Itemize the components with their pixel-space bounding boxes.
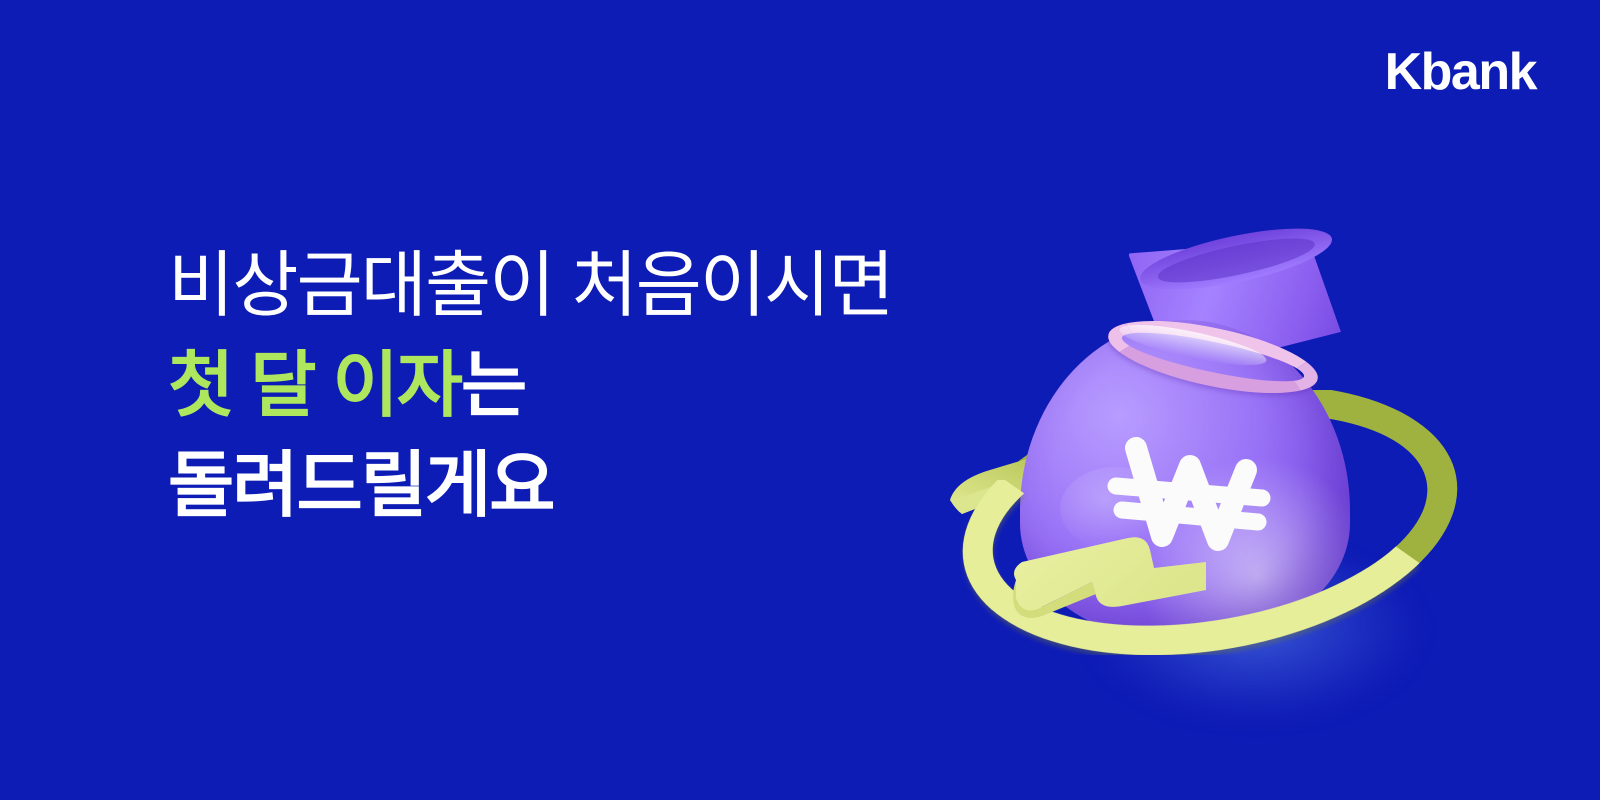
headline-line-1: 비상금대출이 처음이시면 [168, 236, 1008, 336]
headline-line-2-suffix: 는 [461, 346, 525, 426]
headline-accent-text: 첫 달 이자 [168, 346, 461, 426]
money-bag-illustration [940, 180, 1480, 680]
kbank-logo[interactable]: Kbank [1385, 44, 1536, 100]
headline-line-2: 첫 달 이자는 [168, 336, 1008, 436]
orbit-ring-arrowhead [1000, 532, 1210, 630]
headline-block: 비상금대출이 처음이시면 첫 달 이자는 돌려드릴게요 [168, 236, 1008, 536]
kbank-logo-text: Kbank [1385, 46, 1536, 98]
headline-line-3: 돌려드릴게요 [168, 436, 1008, 536]
promo-banner: Kbank 비상금대출이 처음이시면 첫 달 이자는 돌려드릴게요 [0, 0, 1600, 800]
